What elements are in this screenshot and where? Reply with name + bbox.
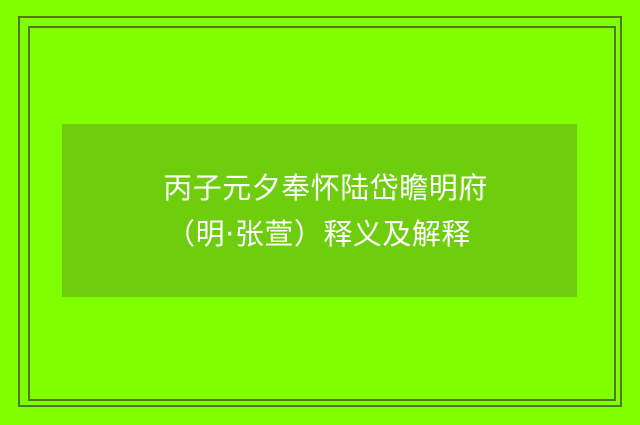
poem-author-subtitle-line: （明·张萱）释义及解释 bbox=[166, 211, 471, 257]
title-panel: 丙子元夕奉怀陆岱瞻明府 （明·张萱）释义及解释 bbox=[62, 124, 577, 297]
poster-canvas: 丙子元夕奉怀陆岱瞻明府 （明·张萱）释义及解释 bbox=[0, 0, 640, 425]
poem-title-line: 丙子元夕奉怀陆岱瞻明府 bbox=[163, 165, 488, 211]
